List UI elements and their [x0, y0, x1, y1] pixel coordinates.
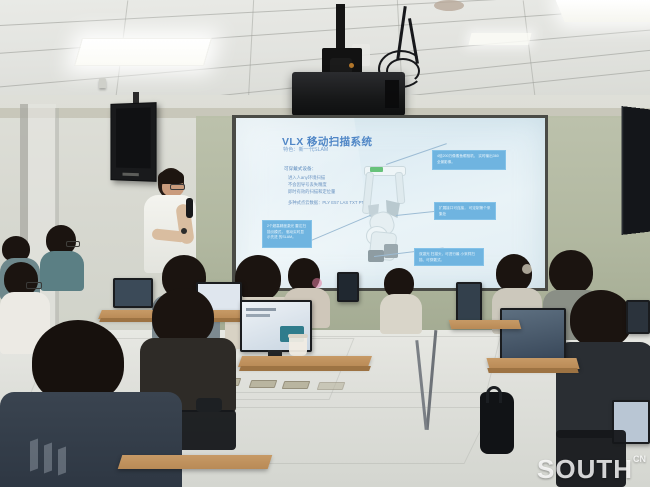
desk — [118, 455, 273, 469]
wall-display — [621, 106, 650, 235]
monitor — [500, 308, 566, 360]
device-indicator — [370, 167, 383, 172]
microphone-icon — [186, 198, 193, 218]
callout-bottom-right: 双激光 扫描头，可进行最 小采样扫描、可穿戴式。 — [414, 248, 484, 266]
slide-bullet-1: 进入人any环境扫描 — [288, 175, 325, 181]
presenter-hair — [158, 170, 184, 184]
glasses-icon — [170, 184, 185, 190]
projector-vent — [385, 80, 399, 108]
slide-bullets-header: 可穿戴式设备： — [284, 166, 316, 172]
monitor — [337, 272, 359, 302]
floor-outlet-3 — [282, 381, 311, 389]
speaker-grille — [116, 107, 151, 168]
callout-top-right: 4倍200万像素鱼眼相机， 实时输出360全景影像。 — [432, 150, 506, 170]
glasses-icon — [66, 241, 80, 247]
desk — [449, 320, 522, 329]
hair-tie-icon — [312, 278, 322, 288]
glasses-icon — [26, 282, 42, 289]
backpack-strap — [486, 386, 502, 403]
classroom-photo: VLX 移动扫描系统 特色：新一代SLAM 可穿戴式设备： 进入人any环境扫描… — [0, 0, 650, 487]
floor-outlet-4 — [317, 382, 346, 390]
sprinkler-icon — [99, 78, 106, 88]
desk-edge — [239, 366, 371, 371]
monitor — [456, 282, 482, 322]
wristwatch-icon — [181, 228, 187, 234]
scanner-device-illustration — [348, 160, 420, 264]
projector-indicator — [349, 63, 354, 68]
watermark-suffix: CN — [633, 454, 646, 464]
projector-mount-rod — [336, 4, 345, 52]
slide-subtitle: 特色：新一代SLAM — [283, 146, 328, 153]
shirt-logo — [30, 440, 80, 474]
slide-bullet-2: 不会因导号丢失精度 — [288, 182, 327, 188]
hair-clip-icon — [522, 264, 532, 274]
monitor — [626, 300, 650, 334]
ceiling-panel-light-right — [556, 0, 650, 22]
mouse-icon — [196, 398, 222, 412]
chair — [178, 410, 236, 450]
floor-outlet-2 — [249, 380, 278, 388]
audience-member — [380, 268, 420, 328]
watermark: SOUTHCN — [537, 454, 646, 485]
drink-cup — [289, 336, 307, 356]
speaker-badge — [123, 173, 139, 176]
cup-lid — [288, 334, 308, 338]
watermark-brand: SOUTH — [537, 454, 633, 484]
callout-mid-right: 扩展接口可连接， 可定制第个采集处 — [434, 202, 496, 220]
ceiling-panel-light-far — [469, 33, 532, 45]
device-arm-right — [395, 172, 406, 205]
ceiling-vent — [434, 0, 464, 11]
callout-left: 2个超高精度激光 雷达扫描仪模式， 驱动实时显示先进 的SLAM。 — [262, 220, 312, 248]
slide-bullet-3: 即时有效的扫描和定位量 — [288, 189, 335, 195]
device-base-2 — [384, 244, 398, 258]
desk-edge — [487, 368, 578, 373]
ceiling-panel-light — [74, 38, 212, 66]
